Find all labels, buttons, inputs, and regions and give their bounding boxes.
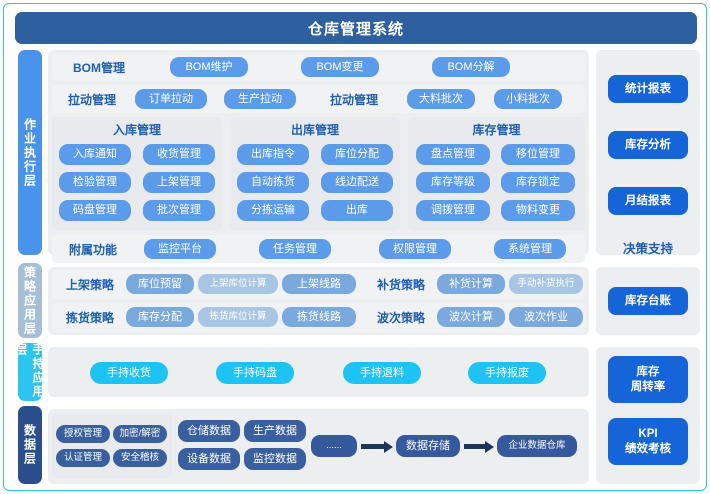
manual-replenish-exec-button[interactable]: 手动补货执行 [509,274,583,294]
outbound-order-button[interactable]: 出库指令 [237,144,309,165]
inventory-group-title: 库存管理 [408,119,585,139]
putaway-mgmt-button[interactable]: 上架管理 [143,172,215,193]
inventory-turnover-button[interactable]: 库存 周转率 [608,356,688,403]
palletizing-mgmt-button[interactable]: 码盘管理 [59,200,131,221]
wave-operation-button[interactable]: 波次作业 [509,307,583,327]
equipment-data-button[interactable]: 设备数据 [178,448,240,470]
outbound-group-title: 出库管理 [230,119,400,139]
stocktaking-mgmt-button[interactable]: 盘点管理 [416,144,490,165]
inventory-level-button[interactable]: 库存等级 [416,172,490,193]
statistics-report-button[interactable]: 统计报表 [608,75,688,103]
inventory-analysis-button[interactable]: 库存分析 [608,131,688,159]
layer-label-operation-execution[interactable]: 作业执行层 [18,50,42,255]
ellipsis-node: ...... [311,435,357,457]
layer-label-data[interactable]: 数据层 [18,406,42,484]
kpi-performance-line-2: 绩效考核 [625,442,671,456]
batch-mgmt-button[interactable]: 批次管理 [143,200,215,221]
encryption-decryption-button[interactable]: 加密/解密 [113,425,167,443]
handheld-palletizing-button[interactable]: 手持码盘 [216,362,294,384]
diagram-frame: 仓库管理系统 作业执行层 策略应用层 手持应用层 数据层 BOM管理 BOM维护… [3,3,707,491]
inventory-lock-button[interactable]: 库存锁定 [501,172,575,193]
picking-strategy-label: 拣货策略 [53,303,127,332]
putaway-location-calc-button[interactable]: 上架库位计算 [198,274,278,294]
bom-group-label: BOM管理 [56,53,142,81]
order-pull-button[interactable]: 订单拉动 [135,89,207,109]
picking-route-button[interactable]: 拣货线路 [282,307,356,327]
handheld-scrap-button[interactable]: 手持报废 [468,362,546,384]
inventory-turnover-line-1: 库存 [637,365,660,379]
authorization-mgmt-button[interactable]: 授权管理 [56,425,110,443]
permission-mgmt-button[interactable]: 权限管理 [379,239,451,259]
authentication-mgmt-button[interactable]: 认证管理 [56,449,110,467]
page-title: 仓库管理系统 [15,12,697,44]
bom-decompose-button[interactable]: BOM分解 [432,57,510,77]
auto-picking-button[interactable]: 自动拣货 [237,172,309,193]
lineside-delivery-button[interactable]: 线边配送 [321,172,393,193]
decision-support-label: 决策支持 [596,236,700,258]
putaway-route-button[interactable]: 上架线路 [282,274,356,294]
handheld-receiving-button[interactable]: 手持收货 [90,362,168,384]
bom-change-button[interactable]: BOM变更 [301,57,379,77]
material-change-button[interactable]: 物料变更 [501,200,575,221]
inventory-ledger-button[interactable]: 库存台账 [608,287,688,315]
bom-maintain-button[interactable]: BOM维护 [170,57,248,77]
task-mgmt-button[interactable]: 任务管理 [259,239,331,259]
inbound-notice-button[interactable]: 入库通知 [59,144,131,165]
arrow-to-storage [361,442,393,451]
data-storage-node[interactable]: 数据存储 [396,435,460,457]
enterprise-data-warehouse-node[interactable]: 企业数据仓库 [497,435,577,457]
transfer-mgmt-button[interactable]: 调拨管理 [416,200,490,221]
receiving-mgmt-button[interactable]: 收货管理 [143,144,215,165]
relocation-mgmt-button[interactable]: 移位管理 [501,144,575,165]
bulk-material-batch-button[interactable]: 大料批次 [407,89,475,109]
small-material-batch-button[interactable]: 小料批次 [494,89,562,109]
security-audit-button[interactable]: 安全稽核 [113,449,167,467]
layer-label-strategy-application[interactable]: 策略应用层 [18,263,42,338]
production-pull-button[interactable]: 生产拉动 [224,89,296,109]
production-data-button[interactable]: 生产数据 [244,420,306,442]
handheld-return-button[interactable]: 手持退料 [343,362,421,384]
pull-group-label-mid: 拉动管理 [315,85,393,113]
replenish-calc-button[interactable]: 补货计算 [437,274,505,294]
month-end-report-button[interactable]: 月结报表 [608,187,688,215]
inventory-allocation-button[interactable]: 库存分配 [126,307,194,327]
arrow-to-warehouse [464,442,494,451]
warehouse-data-button[interactable]: 仓储数据 [178,420,240,442]
inbound-group-title: 入库管理 [52,119,222,139]
inventory-turnover-line-2: 周转率 [631,380,666,394]
picking-location-calc-button[interactable]: 拣货库位计算 [198,307,278,327]
putaway-strategy-label: 上架策略 [53,270,127,299]
monitoring-platform-button[interactable]: 监控平台 [144,239,216,259]
location-reserve-button[interactable]: 库位预留 [126,274,194,294]
sorting-transport-button[interactable]: 分拣运输 [237,200,309,221]
monitoring-data-button[interactable]: 监控数据 [244,448,306,470]
location-allocation-button[interactable]: 库位分配 [321,144,393,165]
kpi-performance-button[interactable]: KPI 绩效考核 [608,418,688,465]
pull-group-label-left: 拉动管理 [53,85,131,113]
outbound-button[interactable]: 出库 [321,200,393,221]
kpi-performance-line-1: KPI [638,427,657,441]
inspection-mgmt-button[interactable]: 检验管理 [59,172,131,193]
layer-label-handheld-application[interactable]: 手持应用层 [18,343,42,401]
wave-strategy-label: 波次策略 [364,303,438,332]
extra-functions-label: 附属功能 [53,235,133,263]
system-mgmt-button[interactable]: 系统管理 [494,239,566,259]
security-subpanel [52,413,172,479]
wave-calc-button[interactable]: 波次计算 [437,307,505,327]
replenish-strategy-label: 补货策略 [364,270,438,299]
